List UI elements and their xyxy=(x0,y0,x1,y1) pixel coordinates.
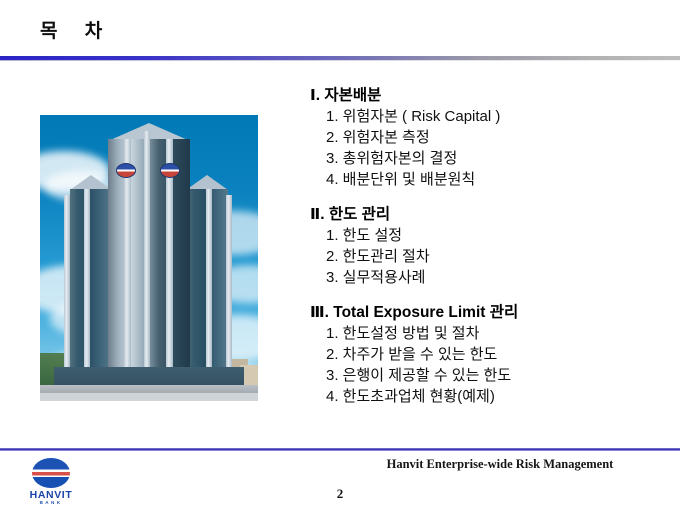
agenda-heading: Ⅰ. 자본배분 xyxy=(310,85,660,106)
agenda-item: 2. 위험자본 측정 xyxy=(310,127,660,148)
page-title: 목 차 xyxy=(40,16,113,43)
foreground-ground xyxy=(40,393,258,401)
agenda-item: 3. 총위험자본의 결정 xyxy=(310,148,660,169)
building-logo-icon xyxy=(116,163,136,178)
hanvit-logo: HANVIT BANK xyxy=(18,458,84,506)
facade-pillar xyxy=(124,139,131,401)
header-divider-shadow xyxy=(0,60,680,61)
headquarters-tower-photo xyxy=(40,115,258,401)
building-logo-icon xyxy=(160,163,180,178)
agenda-list: Ⅰ. 자본배분 1. 위험자본 ( Risk Capital ) 2. 위험자본… xyxy=(310,85,660,407)
agenda-item: 3. 은행이 제공할 수 있는 한도 xyxy=(310,365,660,386)
agenda-item: 2. 한도관리 절차 xyxy=(310,246,660,267)
tower-roof-left xyxy=(70,175,112,190)
agenda-item: 3. 실무적용사례 xyxy=(310,267,660,288)
hanvit-logo-icon xyxy=(32,458,70,488)
agenda-group-3: Ⅲ. Total Exposure Limit 관리 1. 한도설정 방법 및 … xyxy=(310,302,660,407)
tower-roof-right xyxy=(186,175,228,190)
agenda-heading: Ⅱ. 한도 관리 xyxy=(310,204,660,225)
agenda-item: 1. 위험자본 ( Risk Capital ) xyxy=(310,106,660,127)
agenda-item: 1. 한도설정 방법 및 절차 xyxy=(310,323,660,344)
agenda-group-1: Ⅰ. 자본배분 1. 위험자본 ( Risk Capital ) 2. 위험자본… xyxy=(310,85,660,190)
agenda-item: 2. 차주가 받을 수 있는 한도 xyxy=(310,344,660,365)
page-number: 2 xyxy=(310,486,370,502)
footer-note: Hanvit Enterprise-wide Risk Management xyxy=(370,457,630,472)
agenda-item: 4. 배분단위 및 배분원칙 xyxy=(310,169,660,190)
agenda-item: 4. 한도초과업체 현황(예제) xyxy=(310,386,660,407)
hanvit-logo-subtext: BANK xyxy=(18,500,84,505)
agenda-group-2: Ⅱ. 한도 관리 1. 한도 설정 2. 한도관리 절차 3. 실무적용사례 xyxy=(310,204,660,288)
facade-pillar xyxy=(166,139,173,401)
facade-pillar xyxy=(144,131,150,393)
agenda-item: 1. 한도 설정 xyxy=(310,225,660,246)
agenda-heading: Ⅲ. Total Exposure Limit 관리 xyxy=(310,302,660,323)
footer-divider xyxy=(0,448,680,451)
